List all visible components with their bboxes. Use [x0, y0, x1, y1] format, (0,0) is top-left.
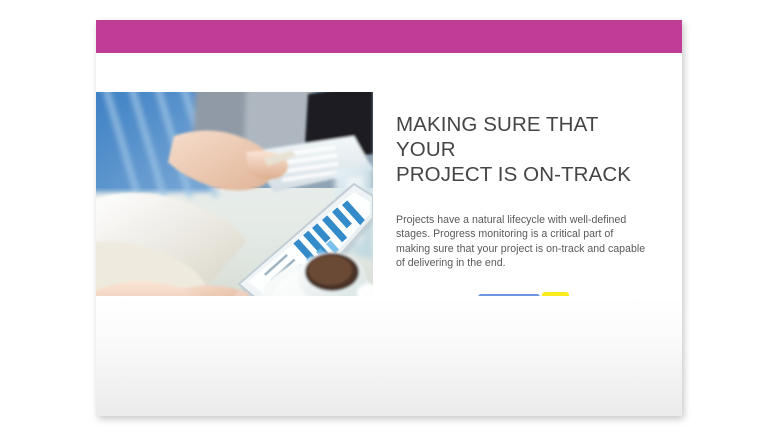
presentation-slide: MAKING SURE THAT YOUR PROJECT IS ON-TRAC… — [96, 20, 682, 416]
slide-content: MAKING SURE THAT YOUR PROJECT IS ON-TRAC… — [396, 112, 648, 270]
slide-title: MAKING SURE THAT YOUR PROJECT IS ON-TRAC… — [396, 112, 648, 187]
slide-header-band — [96, 20, 682, 53]
svg-text:A: A — [492, 310, 508, 335]
slide-body-text: Projects have a natural lifecycle with w… — [396, 187, 648, 270]
project-timeline-gantt-icon: A — [430, 278, 582, 362]
slide-photo — [96, 92, 373, 347]
screenshot-canvas: MAKING SURE THAT YOUR PROJECT IS ON-TRAC… — [0, 0, 770, 440]
